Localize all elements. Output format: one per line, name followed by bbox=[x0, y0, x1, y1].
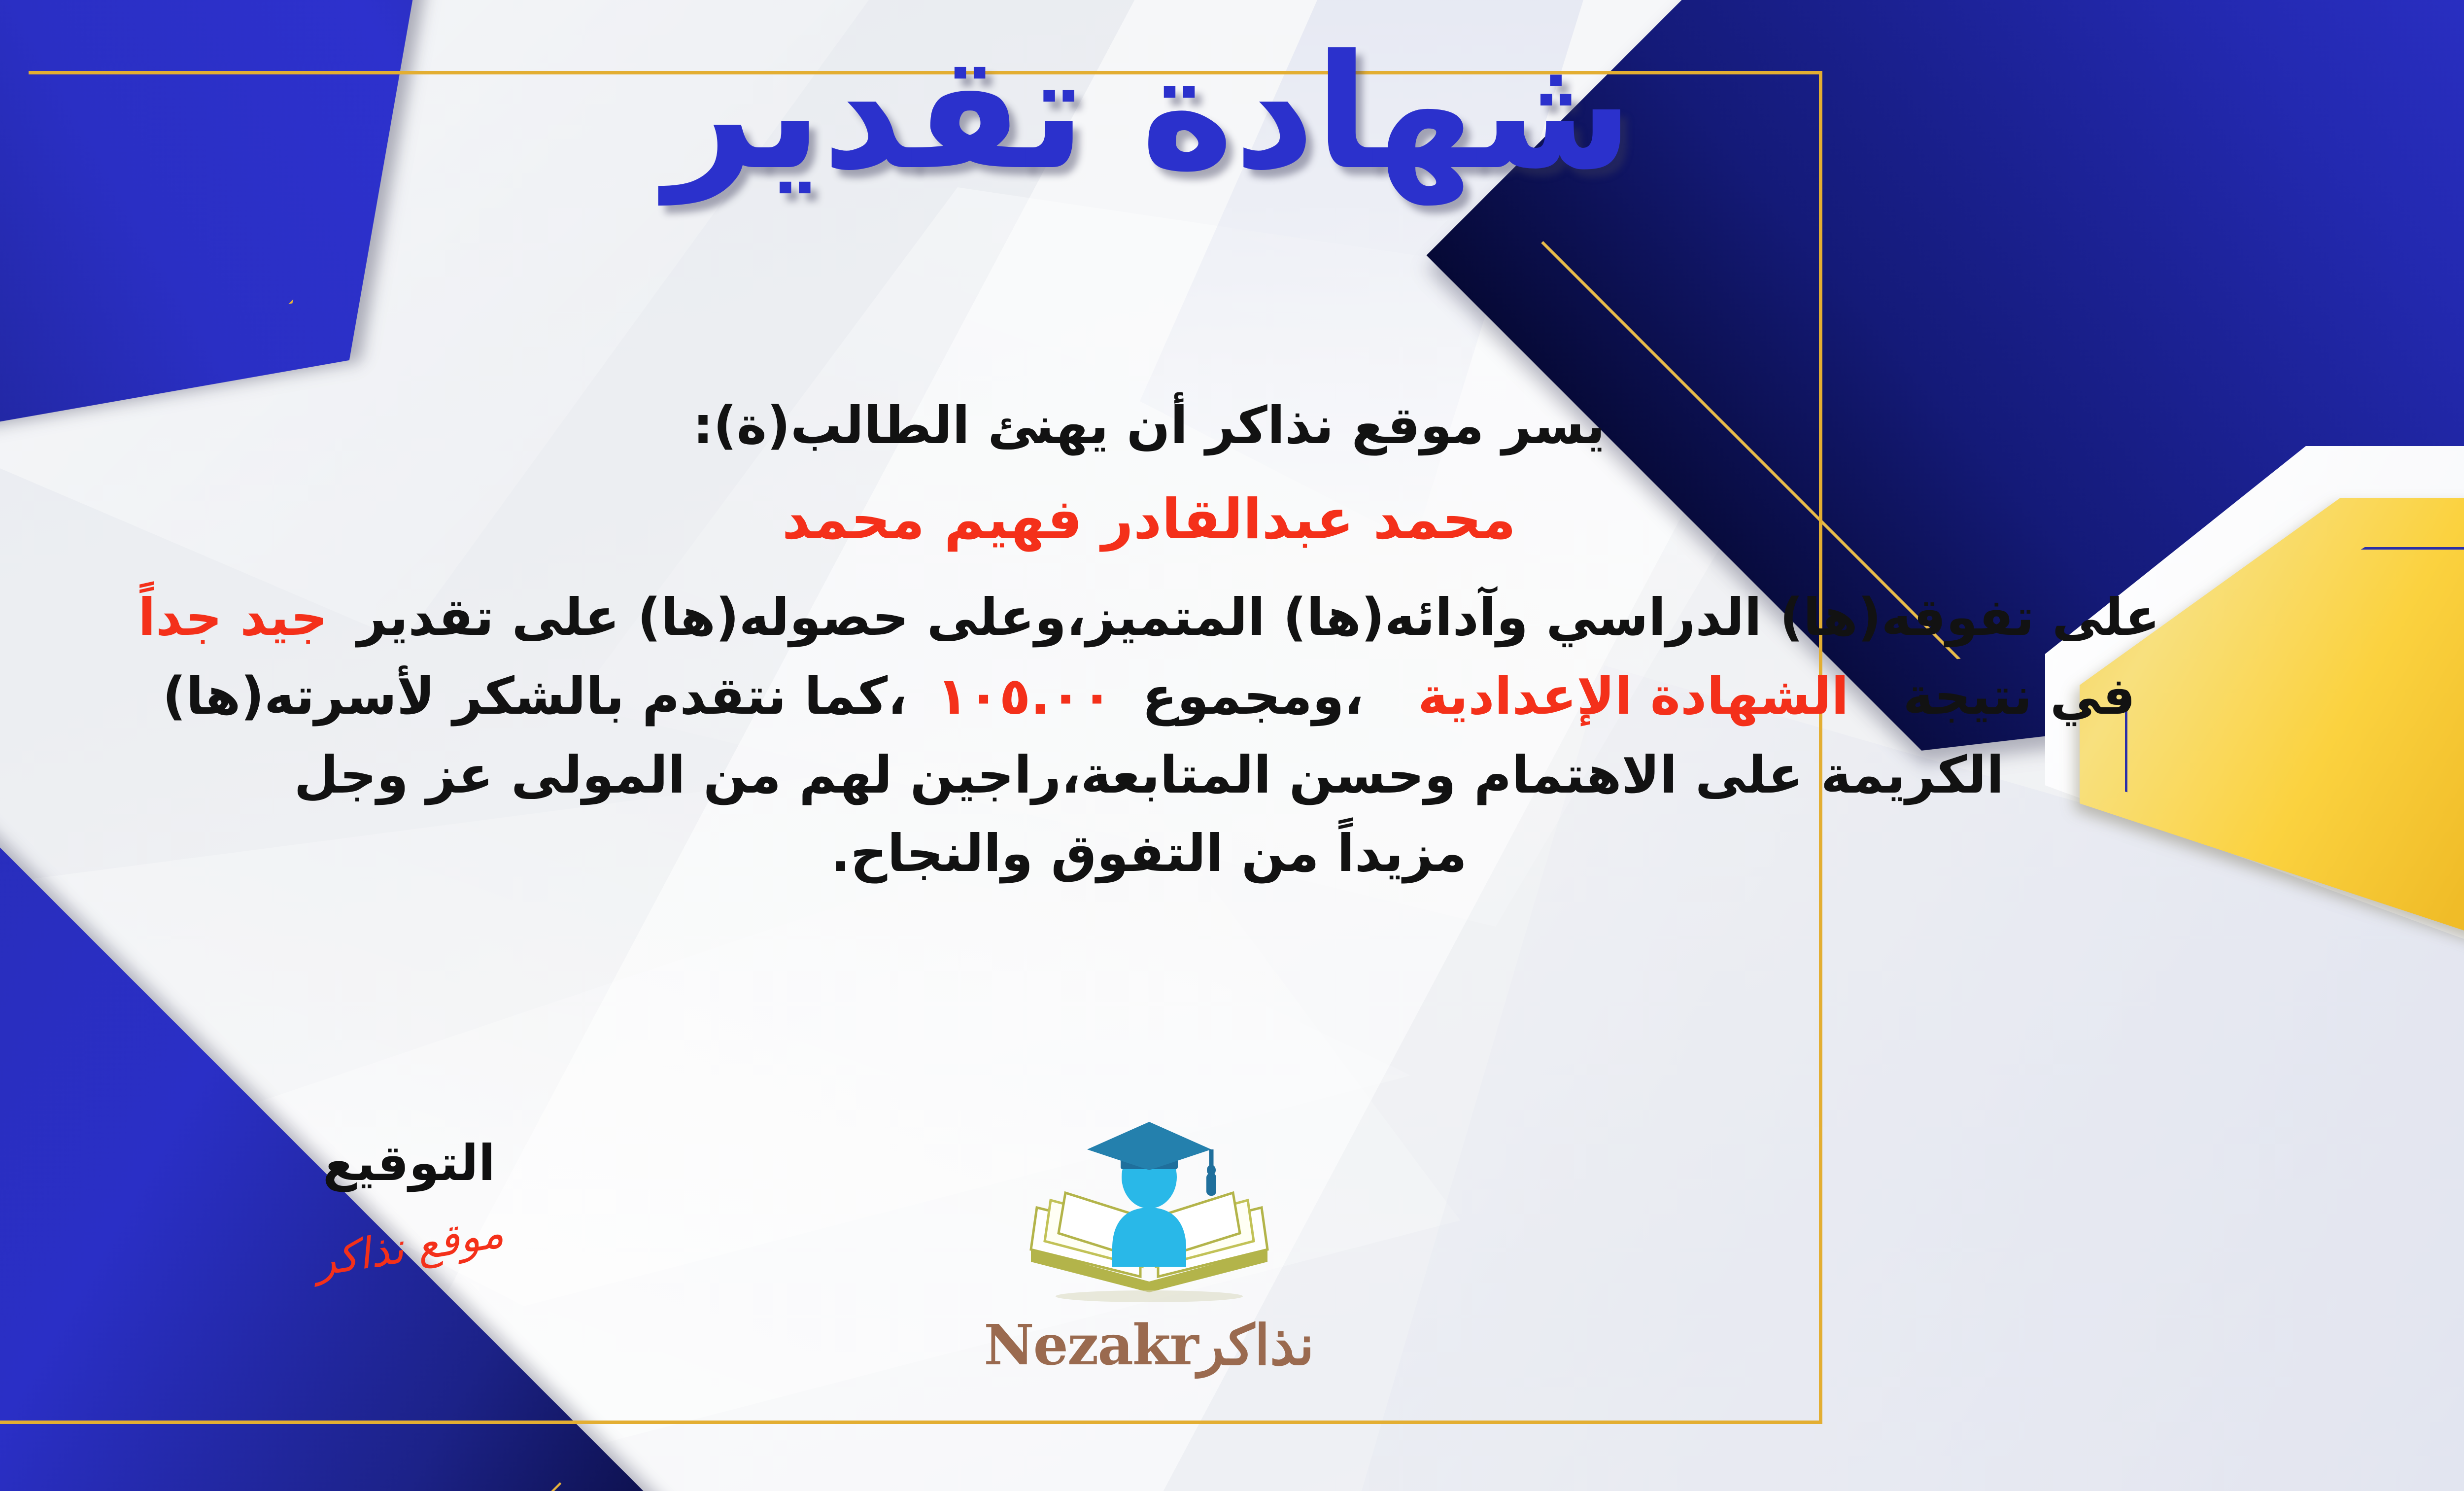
certificate-body: يسر موقع نذاكر أن يهنئ الطالب(ة): محمد ع… bbox=[0, 389, 2316, 896]
greeting-line: يسر موقع نذاكر أن يهنئ الطالب(ة): bbox=[0, 389, 2316, 462]
logo-wordmark: نذاكرNezakr bbox=[957, 1313, 1341, 1378]
achievement-line: على تفوقه(ها) الدراسي وآدائه(ها) المتميز… bbox=[0, 581, 2316, 654]
achievement-text: على تفوقه(ها) الدراسي وآدائه(ها) المتميز… bbox=[357, 587, 2160, 647]
total-score: ١٠٥.٠٠ bbox=[937, 666, 1113, 726]
certificate-footer: التوقيع موقع نذاكر bbox=[0, 1134, 2464, 1454]
logo-latin-text: Nezakr bbox=[984, 1313, 1198, 1378]
certificate-title: شهادة تقدير bbox=[0, 25, 2464, 201]
grade-value: جيد جداً bbox=[138, 587, 327, 647]
certificate-page: شهادة تقدير يسر موقع نذاكر أن يهنئ الطال… bbox=[0, 0, 2464, 1491]
exam-prefix: في نتيجة bbox=[1903, 666, 2136, 726]
family-thanks-line: الكريمة على الاهتمام وحسن المتابعة،راجين… bbox=[0, 739, 2316, 812]
logo-arabic-text: نذاكر bbox=[1198, 1313, 1314, 1378]
exam-line: في نتيجةالشهادة الإعدادية،ومجموع١٠٥.٠٠،ك… bbox=[0, 660, 2316, 733]
student-name: محمد عبدالقادر فهيم محمد bbox=[0, 484, 2316, 556]
logo-graphic bbox=[1011, 1119, 1287, 1316]
thanks-text: ،كما نتقدم بالشكر لأسرته(ها) bbox=[163, 666, 907, 726]
exam-name: الشهادة الإعدادية bbox=[1418, 666, 1849, 726]
closing-line: مزيداً من التفوق والنجاح. bbox=[0, 817, 2316, 890]
total-label: ،ومجموع bbox=[1142, 666, 1364, 726]
brand-logo: نذاكرNezakr bbox=[0, 1119, 2464, 1378]
